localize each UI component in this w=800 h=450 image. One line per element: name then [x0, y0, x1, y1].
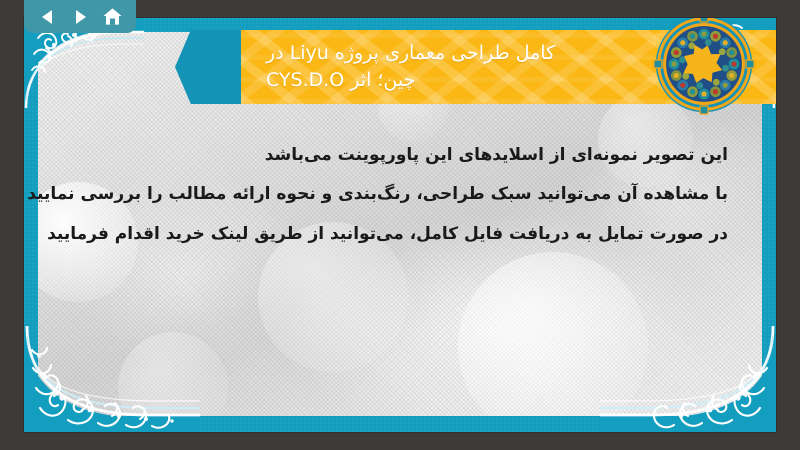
body-line-3: در صورت تمایل به دریافت فایل کامل، می‌تو…: [72, 215, 728, 254]
next-slide-button[interactable]: [67, 4, 93, 30]
bokeh-circle: [378, 72, 448, 142]
slide-frame: کامل طراحی معماری پروژه Liyu در چین؛ اثر…: [24, 18, 776, 432]
home-house-icon: [102, 7, 123, 27]
navigation-bar: [24, 0, 136, 33]
body-line-2: با مشاهده آن می‌توانید سبک طراحی، رنگ‌بن…: [72, 175, 728, 214]
home-button[interactable]: [99, 4, 125, 30]
previous-slide-button[interactable]: [35, 4, 61, 30]
next-triangle-icon: [71, 8, 89, 26]
bokeh-circle: [118, 332, 228, 416]
slide-viewer: کامل طراحی معماری پروژه Liyu در چین؛ اثر…: [0, 0, 800, 450]
previous-triangle-icon: [39, 8, 57, 26]
slide-body-text: این تصویر نمونه‌ای از اسلایدهای این پاور…: [72, 136, 728, 254]
bokeh-circle: [458, 252, 648, 416]
body-line-1: این تصویر نمونه‌ای از اسلایدهای این پاور…: [72, 136, 728, 175]
